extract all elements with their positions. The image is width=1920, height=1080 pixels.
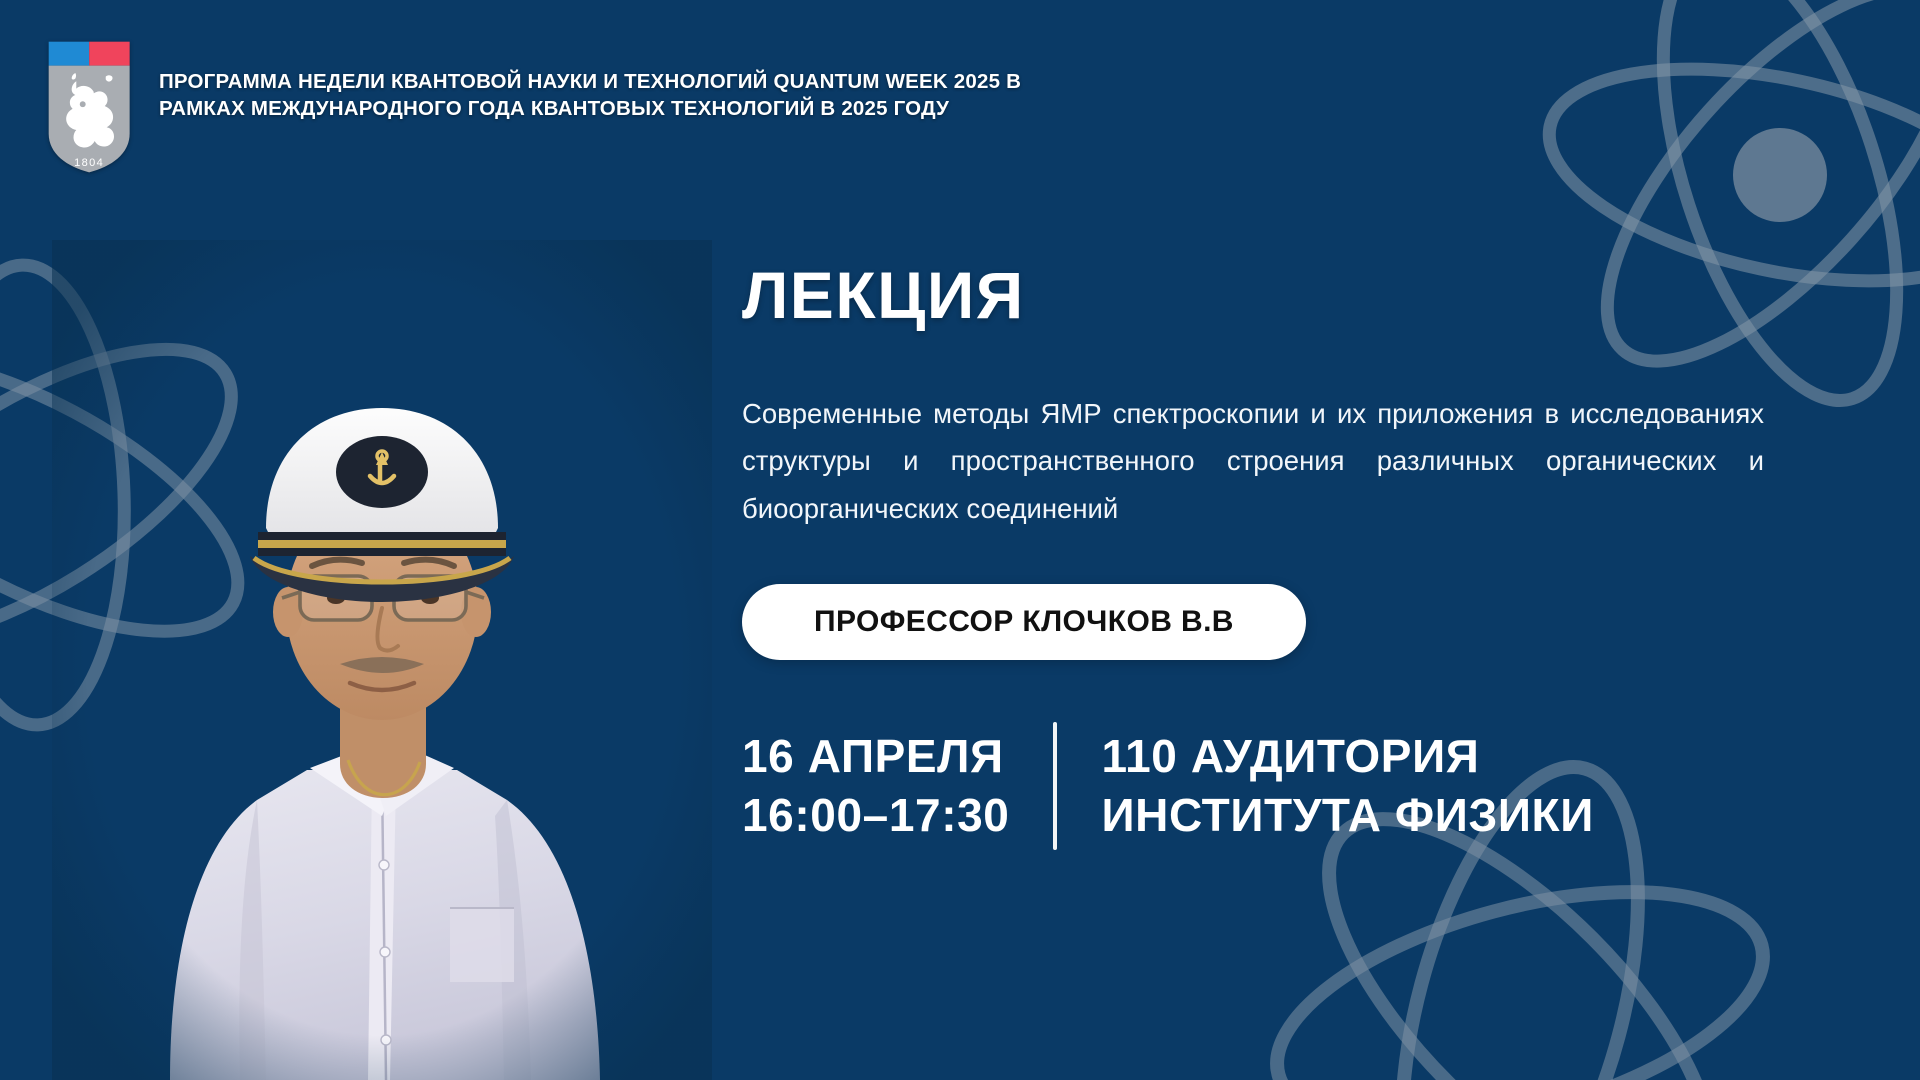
main-content: ЛЕКЦИЯ Современные методы ЯМР спектроско… <box>742 262 1832 850</box>
event-details: 16 АПРЕЛЯ 16:00–17:30 110 АУДИТОРИЯ ИНСТ… <box>742 722 1832 850</box>
header-bar: 1804 ПРОГРАММА НЕДЕЛИ КВАНТОВОЙ НАУКИ И … <box>45 38 1021 176</box>
atom-decoration-icon <box>0 235 290 755</box>
header-program-text: ПРОГРАММА НЕДЕЛИ КВАНТОВОЙ НАУКИ И ТЕХНО… <box>159 68 1021 123</box>
event-date-label: 16 АПРЕЛЯ <box>742 727 1009 786</box>
event-venue: 110 АУДИТОРИЯ ИНСТИТУТА ФИЗИКИ <box>1057 727 1593 845</box>
vertical-divider <box>1053 722 1057 850</box>
event-room-label: 110 АУДИТОРИЯ <box>1101 727 1593 786</box>
speaker-name-label: ПРОФЕССОР КЛОЧКОВ В.В <box>814 605 1234 639</box>
speaker-badge-wrapper: ПРОФЕССОР КЛОЧКОВ В.В <box>742 584 1832 660</box>
page-title: ЛЕКЦИЯ <box>742 262 1832 328</box>
speaker-badge[interactable]: ПРОФЕССОР КЛОЧКОВ В.В <box>742 584 1306 660</box>
speaker-portrait-photo <box>52 240 712 1080</box>
header-line-2: РАМКАХ МЕЖДУНАРОДНОГО ГОДА КВАНТОВЫХ ТЕХ… <box>159 95 1021 122</box>
event-time-label: 16:00–17:30 <box>742 786 1009 845</box>
poster-canvas: 1804 ПРОГРАММА НЕДЕЛИ КВАНТОВОЙ НАУКИ И … <box>0 0 1920 1080</box>
event-datetime: 16 АПРЕЛЯ 16:00–17:30 <box>742 727 1053 845</box>
crest-year-label: 1804 <box>74 157 104 169</box>
header-line-1: ПРОГРАММА НЕДЕЛИ КВАНТОВОЙ НАУКИ И ТЕХНО… <box>159 70 1021 93</box>
lecture-description: Современные методы ЯМР спектроскопии и и… <box>742 390 1764 532</box>
university-crest-icon: 1804 <box>45 38 137 176</box>
event-place-label: ИНСТИТУТА ФИЗИКИ <box>1101 786 1593 845</box>
